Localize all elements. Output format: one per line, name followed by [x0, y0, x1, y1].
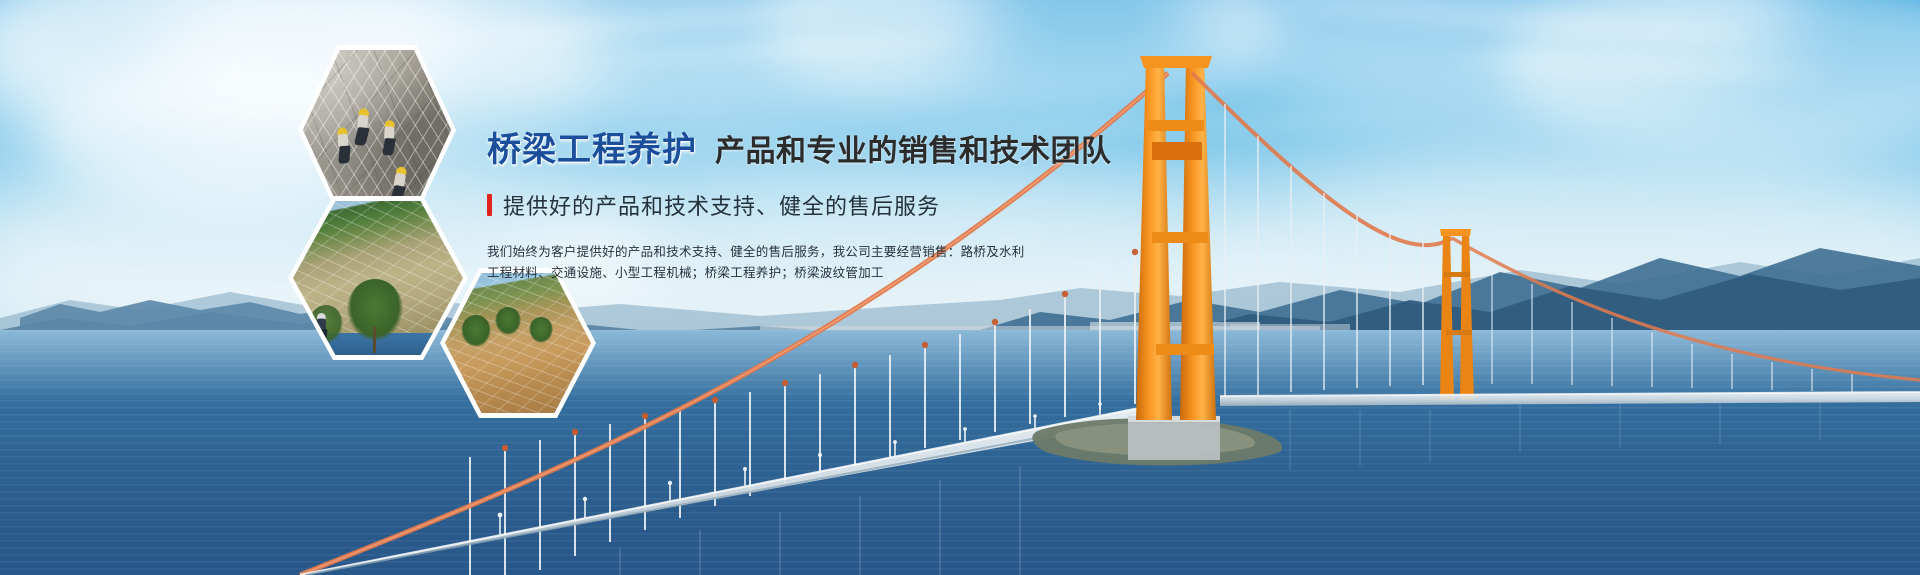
headline-secondary: 产品和专业的销售和技术团队	[715, 126, 1112, 170]
body-line-2: 工程材料、交通设施、小型工程机械；桥梁工程养护；桥梁波纹管加工	[487, 263, 1107, 284]
hero-banner: 桥梁工程养护 产品和专业的销售和技术团队 提供好的产品和技术支持、健全的售后服务…	[0, 0, 1920, 575]
headline-row: 桥梁工程养护 产品和专业的销售和技术团队	[487, 122, 1107, 171]
rock-slope-mesh-image	[303, 50, 451, 210]
body-line-1: 我们始终为客户提供好的产品和技术支持、健全的售后服务，我公司主要经营销售：路桥及…	[487, 242, 1107, 263]
green-slope-mesh-image	[293, 201, 463, 355]
subheadline-text: 提供好的产品和技术支持、健全的售后服务	[503, 189, 940, 221]
subheadline-row: 提供好的产品和技术支持、健全的售后服务	[487, 189, 1107, 221]
ochre-slope-mesh-image	[445, 273, 591, 413]
body-copy: 我们始终为客户提供好的产品和技术支持、健全的售后服务，我公司主要经营销售：路桥及…	[487, 242, 1107, 284]
banner-copy: 桥梁工程养护 产品和专业的销售和技术团队 提供好的产品和技术支持、健全的售后服务…	[487, 122, 1107, 284]
suspension-bridge	[0, 0, 1920, 575]
accent-bar	[487, 194, 492, 216]
headline-primary: 桥梁工程养护	[487, 122, 697, 171]
